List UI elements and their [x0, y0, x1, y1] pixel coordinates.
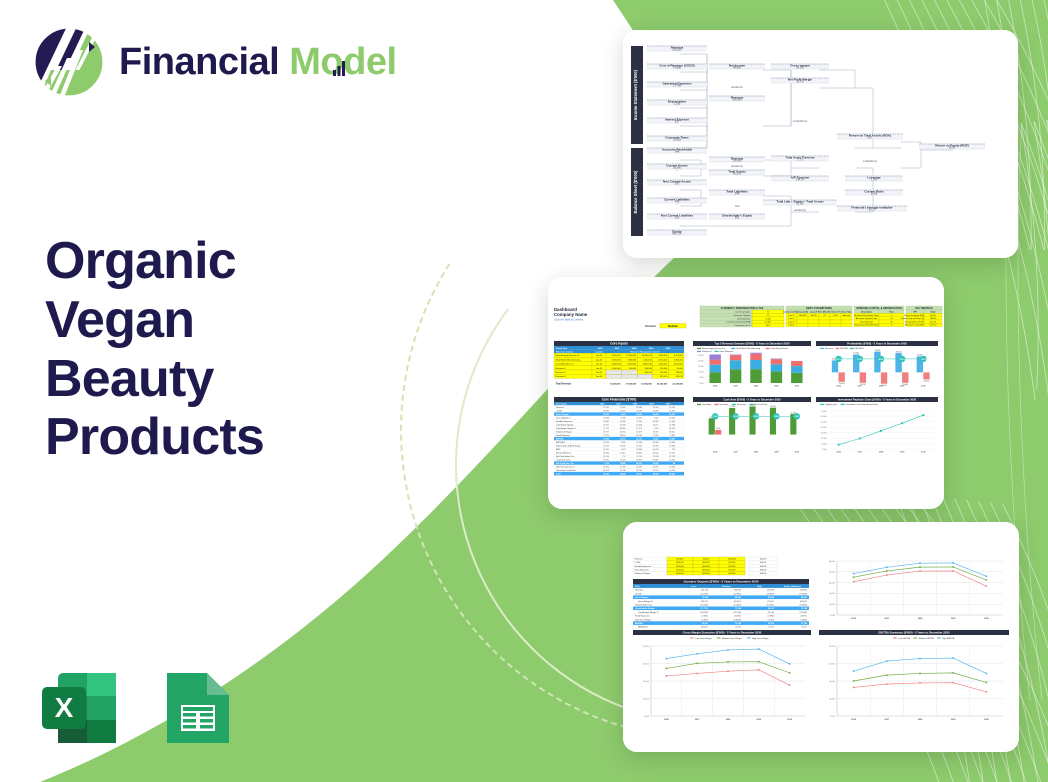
svg-text:Contribution Margin %: Contribution Margin % — [638, 611, 659, 614]
svg-text:26,818: 26,818 — [636, 460, 642, 462]
svg-text:83,746: 83,746 — [636, 470, 642, 472]
svg-text:52.0%: 52.0% — [801, 627, 807, 629]
svg-text:42,571: 42,571 — [603, 425, 609, 427]
svg-text:20,000: 20,000 — [643, 663, 650, 665]
svg-text:Company Name: Company Name — [554, 312, 588, 317]
svg-text:Gross Margin: Gross Margin — [556, 414, 570, 416]
svg-text:Investing: Investing — [719, 403, 727, 406]
svg-text:10,650: 10,650 — [924, 381, 930, 383]
svg-text:(99.0)%: (99.0)% — [728, 569, 735, 571]
svg-text:5,700,000: 5,700,000 — [658, 359, 668, 361]
svg-text:(45,218): (45,218) — [701, 593, 709, 595]
svg-text:87,239: 87,239 — [669, 456, 675, 458]
svg-text:88: 88 — [673, 463, 675, 465]
svg-text:Revenue: Revenue — [825, 348, 834, 350]
svg-text:50.5%: 50.5% — [796, 202, 804, 206]
svg-text:Jan-25: Jan-25 — [930, 321, 937, 323]
svg-text:30,000: 30,000 — [829, 561, 836, 563]
svg-text:100.0%: 100.0% — [703, 559, 710, 561]
svg-text:Loan 3: Loan 3 — [788, 321, 795, 323]
svg-text:8,450,000: 8,450,000 — [612, 355, 622, 357]
svg-text:Consulting Services: Consulting Services — [556, 363, 574, 366]
svg-text:4,000,000: 4,000,000 — [612, 364, 622, 366]
headline-line-2: Vegan — [45, 291, 445, 350]
svg-text:980,000: 980,000 — [660, 372, 668, 374]
svg-text:(13,863): (13,863) — [734, 605, 742, 607]
svg-text:49,162: 49,162 — [669, 453, 675, 455]
svg-text:4,800,148: 4,800,148 — [643, 364, 653, 366]
svg-text:Jan-26: Jan-26 — [596, 364, 603, 366]
svg-text:100.0%: 100.0% — [760, 566, 767, 568]
svg-text:multiplied by: multiplied by — [793, 119, 808, 123]
svg-text:Top 5 Revenue Streams ($'000): Top 5 Revenue Streams ($'000) - 5 Years … — [715, 342, 790, 346]
svg-text:52.0%: 52.0% — [735, 627, 741, 629]
svg-text:29,140: 29,140 — [896, 351, 902, 353]
svg-text:15,810: 15,810 — [860, 384, 866, 386]
svg-text:78,318: 78,318 — [653, 432, 659, 434]
svg-text:Loan 2: Loan 2 — [788, 318, 795, 320]
svg-text:(49,833): (49,833) — [767, 593, 775, 595]
svg-text:5,000: 5,000 — [644, 716, 650, 718]
svg-text:divided by: divided by — [794, 208, 806, 212]
svg-text:75,108: 75,108 — [620, 470, 626, 472]
svg-text:10,300: 10,300 — [753, 416, 758, 418]
svg-text:16,400,000: 16,400,000 — [610, 382, 621, 385]
svg-text:75,748: 75,748 — [735, 622, 742, 625]
svg-text:Accounts Receivable Days: Accounts Receivable Days — [855, 314, 879, 317]
svg-text:15,000: 15,000 — [643, 681, 650, 683]
svg-text:136,800: 136,800 — [734, 590, 742, 592]
svg-text:-: - — [677, 87, 678, 90]
ratio-node: Corporate Taxes20,528 — [647, 135, 707, 141]
ratio-node: Net Profit Margin35.7% — [771, 77, 829, 83]
svg-text:63,363: 63,363 — [653, 407, 659, 409]
svg-text:Depreciation & Amortisation: Depreciation & Amortisation — [556, 445, 581, 448]
svg-text:Net Profit after Tax: Net Profit after Tax — [556, 462, 575, 465]
svg-text:59,710: 59,710 — [636, 456, 642, 458]
svg-text:Go to the Table of Contents: Go to the Table of Contents — [554, 319, 584, 322]
svg-text:15,000: 15,000 — [829, 681, 836, 683]
svg-text:50,000: 50,000 — [677, 368, 684, 370]
svg-text:87,005: 87,005 — [603, 407, 609, 409]
svg-text:Operating: Operating — [702, 403, 711, 406]
svg-text:58.98: 58.98 — [871, 192, 878, 196]
svg-text:Revenue 6: Revenue 6 — [556, 376, 567, 378]
svg-text:(101.0)%: (101.0)% — [676, 566, 684, 568]
svg-text:Denomination: Denomination — [737, 317, 751, 320]
svg-text:Loan 1: Loan 1 — [788, 315, 795, 317]
svg-text:71,279: 71,279 — [636, 428, 642, 430]
svg-text:Low Gross Margin: Low Gross Margin — [695, 638, 711, 640]
svg-text:420,070: 420,070 — [676, 376, 684, 378]
svg-text:9,000: 9,000 — [699, 372, 704, 374]
svg-text:20,670: 20,670 — [669, 470, 675, 472]
svg-text:16,373: 16,373 — [636, 432, 642, 434]
svg-text:Gross Margin: Gross Margin — [635, 596, 649, 599]
svg-text:14,007: 14,007 — [636, 418, 642, 420]
svg-text:Payback year: Payback year — [825, 404, 837, 406]
svg-text:Net Profit after tax %: Net Profit after tax % — [556, 466, 575, 469]
svg-text:20,764: 20,764 — [653, 449, 659, 451]
svg-text:47,368: 47,368 — [620, 421, 626, 423]
svg-text:1,170.2: 1,170.2 — [930, 325, 938, 327]
svg-text:420,070: 420,070 — [660, 376, 668, 378]
svg-text:Small Batch Manufacturing: Small Batch Manufacturing — [736, 347, 760, 350]
svg-text:(7,682): (7,682) — [768, 616, 775, 618]
svg-text:Depreciation Period (Years): Depreciation Period (Years) — [854, 324, 879, 327]
svg-text:2028: 2028 — [632, 348, 638, 350]
svg-text:Revenue streams: Revenue streams — [556, 350, 574, 353]
ratio-node: Gross margin65.0% — [771, 63, 829, 69]
svg-text:Gross Margin %: Gross Margin % — [638, 600, 653, 603]
svg-text:High Gross Margin: High Gross Margin — [752, 638, 769, 640]
svg-text:20,140,000: 20,140,000 — [657, 382, 668, 385]
microsoft-excel-icon[interactable]: X — [36, 665, 122, 751]
svg-text:9,010: 9,010 — [795, 416, 799, 418]
svg-text:10,130: 10,130 — [733, 416, 738, 418]
svg-text:18,824: 18,824 — [636, 453, 642, 455]
svg-text:752: 752 — [622, 456, 625, 458]
svg-text:Fixed Expenses: Fixed Expenses — [635, 569, 649, 571]
svg-text:84,339: 84,339 — [653, 421, 659, 423]
svg-text:43.2%: 43.2% — [900, 358, 905, 361]
svg-text:549: 549 — [735, 192, 740, 196]
svg-text:Jan-26: Jan-26 — [596, 372, 603, 374]
svg-text:Annuity: Annuity — [843, 314, 850, 317]
svg-text:(61,18): (61,18) — [768, 612, 775, 614]
svg-text:Corporate Taxes: Corporate Taxes — [556, 459, 571, 462]
svg-text:CURRENCY, DENOMINATION & TAX: CURRENCY, DENOMINATION & TAX — [721, 307, 764, 310]
svg-text:15,840: 15,840 — [903, 384, 909, 386]
svg-text:Discounted Cash Flow: Discounted Cash Flow — [905, 320, 926, 323]
svg-text:78,990: 78,990 — [603, 439, 609, 441]
svg-text:(99.0)%: (99.0)% — [728, 566, 735, 568]
svg-text:Salaries & Wages: Salaries & Wages — [556, 432, 572, 434]
svg-text:41,200: 41,200 — [620, 411, 626, 413]
svg-text:divided by: divided by — [731, 164, 743, 168]
svg-text:Variable Expenses: Variable Expenses — [635, 566, 652, 568]
svg-text:60,321: 60,321 — [636, 474, 642, 476]
ratio-node: Revenue136,800 — [709, 95, 765, 101]
svg-text:80,462: 80,462 — [603, 473, 609, 476]
svg-text:24,141: 24,141 — [603, 449, 609, 451]
svg-text:1.000: 1.000 — [765, 322, 771, 324]
svg-text:Revenue 4: Revenue 4 — [556, 368, 567, 370]
svg-text:2029: 2029 — [649, 348, 655, 350]
svg-text:Financing: Financing — [737, 404, 746, 406]
svg-text:39.2%: 39.2% — [921, 359, 926, 361]
svg-text:(47,880): (47,880) — [734, 593, 742, 595]
svg-text:142,380: 142,380 — [767, 590, 775, 592]
svg-text:Jan-26: Jan-26 — [596, 355, 603, 357]
svg-text:948: 948 — [675, 150, 680, 154]
svg-text:34,522: 34,522 — [669, 413, 675, 416]
svg-text:7,000: 7,000 — [699, 377, 704, 379]
svg-text:74,435: 74,435 — [669, 438, 675, 441]
svg-text:30,366: 30,366 — [636, 449, 642, 451]
svg-text:34,154: 34,154 — [603, 456, 609, 458]
svg-text:17,200: 17,200 — [881, 385, 887, 387]
svg-text:14,280: 14,280 — [839, 383, 845, 385]
svg-text:Net Profit before Tax: Net Profit before Tax — [556, 455, 574, 458]
svg-text:10,000: 10,000 — [829, 604, 836, 606]
svg-text:34,497: 34,497 — [653, 467, 659, 469]
svg-text:(101.0)%: (101.0)% — [676, 569, 684, 571]
svg-text:Inventory Days: Inventory Days — [860, 320, 873, 323]
svg-text:78,174: 78,174 — [603, 435, 609, 437]
svg-text:75,748: 75,748 — [801, 622, 808, 625]
svg-text:High: High — [757, 586, 763, 588]
svg-text:Revenue 4: Revenue 4 — [702, 351, 713, 353]
svg-text:4,000,000: 4,000,000 — [674, 364, 684, 366]
ratio-node: Revenue136,800 — [709, 156, 765, 162]
svg-text:520,000: 520,000 — [660, 368, 668, 370]
brand-word-model: Model — [289, 41, 396, 83]
svg-text:100.0%: 100.0% — [760, 573, 767, 575]
svg-text:EBITDA %: EBITDA % — [855, 347, 865, 350]
svg-text:Total Revenue: Total Revenue — [556, 382, 572, 385]
svg-text:52,907: 52,907 — [702, 623, 709, 625]
svg-text:100.0%: 100.0% — [760, 559, 767, 561]
svg-text:4,000,000: 4,000,000 — [658, 364, 668, 366]
svg-text:44,316: 44,316 — [636, 462, 642, 465]
svg-text:Interest Expense: Interest Expense — [556, 452, 572, 455]
svg-text:20,000: 20,000 — [829, 663, 836, 665]
svg-text:Jan-26: Jan-26 — [596, 359, 603, 361]
svg-text:75,748: 75,748 — [801, 607, 808, 610]
svg-text:Description: Description — [556, 403, 568, 406]
svg-text:70,428: 70,428 — [669, 442, 675, 444]
svg-text:49,263: 49,263 — [669, 407, 675, 409]
svg-text:Medium: Medium — [668, 324, 678, 328]
svg-text:Description: Description — [861, 311, 873, 314]
svg-text:EBIT: EBIT — [556, 449, 561, 451]
svg-text:105: 105 — [675, 216, 680, 220]
svg-text:(8,671): (8,671) — [735, 616, 742, 618]
svg-text:(3,180): (3,180) — [768, 619, 775, 621]
svg-text:(103.0)%: (103.0)% — [676, 573, 684, 575]
svg-text:10,000: 10,000 — [643, 698, 650, 700]
dashboard-screenshot[interactable]: DashboardCompany NameGo to the Table of … — [548, 277, 944, 509]
svg-text:5,476: 5,476 — [621, 413, 626, 416]
svg-text:100.0%: 100.0% — [760, 562, 767, 564]
svg-text:Cash: Cash — [556, 474, 562, 476]
svg-text:39,486: 39,486 — [669, 446, 675, 448]
svg-text:COGS: COGS — [635, 562, 642, 564]
google-sheets-icon[interactable] — [151, 665, 237, 751]
svg-text:(7,581): (7,581) — [702, 616, 709, 618]
ratio-node: Current Ratio58.98 — [845, 189, 903, 195]
svg-text:7,160,000: 7,160,000 — [643, 359, 653, 361]
svg-text:73,928: 73,928 — [620, 446, 626, 448]
ratio-node: Financial Leverage multiplier63.22 — [837, 205, 907, 211]
svg-text:-: - — [677, 51, 678, 54]
svg-text:(13,863): (13,863) — [800, 605, 808, 607]
headline-line-3: Beauty — [45, 350, 445, 409]
svg-text:136,800: 136,800 — [800, 590, 808, 592]
svg-text:1.9%: 1.9% — [871, 178, 878, 182]
svg-text:(47,880): (47,880) — [800, 593, 808, 595]
svg-text:31,000: 31,000 — [821, 433, 827, 435]
svg-text:(3,498): (3,498) — [801, 619, 808, 621]
file-format-icons: X — [36, 665, 237, 751]
svg-text:12,200: 12,200 — [770, 406, 776, 408]
svg-text:Variable Expenses: Variable Expenses — [635, 604, 652, 607]
svg-text:Fiscal Year: Fiscal Year — [556, 348, 568, 350]
svg-text:80,674: 80,674 — [603, 467, 609, 469]
svg-text:19,994,000: 19,994,000 — [641, 382, 652, 385]
svg-text:8.0%: 8.0% — [833, 315, 838, 317]
svg-text:(65.0)%: (65.0)% — [734, 601, 741, 603]
svg-text:22,520: 22,520 — [669, 460, 675, 462]
svg-text:(66,136): (66,136) — [701, 612, 709, 614]
svg-text:Currency Outputs: Currency Outputs — [733, 314, 751, 317]
svg-text:71,000: 71,000 — [821, 411, 827, 413]
svg-text:48,329: 48,329 — [603, 413, 609, 416]
svg-text:136,800: 136,800 — [732, 98, 742, 102]
svg-text:66,160: 66,160 — [620, 435, 626, 437]
svg-text:68,633: 68,633 — [603, 411, 609, 413]
svg-text:65,463: 65,463 — [653, 413, 659, 416]
svg-text:5,950,000: 5,950,000 — [612, 359, 622, 361]
svg-text:23,084: 23,084 — [669, 467, 675, 469]
svg-text:KPI: KPI — [913, 312, 917, 314]
svg-text:13,000: 13,000 — [698, 360, 704, 362]
svg-text:5,000: 5,000 — [699, 383, 704, 385]
svg-text:32,645: 32,645 — [620, 473, 626, 476]
svg-text:(100.0)%: (100.0)% — [702, 569, 710, 571]
svg-text:938,108: 938,108 — [644, 368, 652, 370]
svg-text:25,000: 25,000 — [643, 646, 650, 648]
svg-text:21,035: 21,035 — [620, 407, 626, 409]
svg-text:83,480: 83,480 — [636, 407, 642, 409]
ratio-node: Non Current Liabilities105 — [647, 213, 707, 219]
ratio-node: Return on Equity (ROE)61.03 — [919, 143, 985, 149]
svg-text:multiplied by: multiplied by — [863, 159, 878, 163]
svg-text:COGS: COGS — [635, 593, 642, 595]
ratio-node: A/R Turnover144.24 — [771, 175, 829, 181]
svg-text:Revenue Forecast for years $: Revenue Forecast for years $ — [631, 350, 661, 353]
svg-text:75,399: 75,399 — [653, 435, 659, 437]
svg-text:1,715: 1,715 — [654, 428, 659, 430]
svg-text:12,010: 12,010 — [620, 439, 626, 441]
svg-text:Salaries & Wages: Salaries & Wages — [635, 573, 651, 575]
svg-text:2027: 2027 — [615, 348, 621, 350]
svg-text:74,889: 74,889 — [620, 462, 626, 465]
svg-text:81,766: 81,766 — [653, 446, 659, 448]
svg-text:40,918: 40,918 — [636, 425, 642, 427]
svg-text:(8,671): (8,671) — [801, 616, 808, 618]
svg-text:24,499: 24,499 — [636, 467, 642, 469]
svg-text:Cumulative Cash Generated (Gro: Cumulative Cash Generated (Gross) — [846, 403, 879, 406]
ratio-node: Accounts Receivable948 — [647, 147, 707, 153]
svg-text:36,977: 36,977 — [603, 432, 609, 434]
svg-text:Low: Low — [691, 586, 696, 588]
svg-text:(100.0)%: (100.0)% — [702, 573, 710, 575]
svg-text:168,000: 168,000 — [676, 372, 684, 374]
svg-text:146.6%: 146.6% — [930, 318, 937, 320]
svg-text:Other Revenue: Other Revenue — [719, 350, 733, 353]
svg-text:20,000: 20,000 — [829, 582, 836, 584]
svg-text:(71.0)%: (71.0)% — [767, 601, 774, 603]
svg-text:75,748: 75,748 — [735, 607, 742, 610]
svg-text:(65.0)%: (65.0)% — [800, 601, 807, 603]
svg-text:10,898,100: 10,898,100 — [642, 355, 653, 357]
svg-text:15,248: 15,248 — [653, 456, 659, 458]
svg-text:EBITDA: EBITDA — [635, 622, 643, 625]
scenario-analysis-screenshot[interactable]: Revenue(96.0)%100.0%(104.0)%100.0%COGS(1… — [623, 522, 1019, 752]
svg-text:(13,136): (13,136) — [701, 605, 709, 607]
svg-text:48,828: 48,828 — [733, 66, 741, 70]
svg-text:Low EBITDA: Low EBITDA — [898, 637, 910, 640]
svg-text:(96.0)%: (96.0)% — [676, 559, 683, 561]
svg-text:50,576: 50,576 — [733, 172, 741, 176]
svg-text:Profitability ($'000) - 5 Year: Profitability ($'000) - 5 Years to Decem… — [847, 342, 907, 346]
svg-text:Balance Sheet ($'000): Balance Sheet ($'000) — [633, 170, 638, 213]
ratio-node: Equity#51,176 — [647, 229, 707, 235]
svg-text:Amount ($): Amount ($) — [797, 311, 808, 314]
ratio-node: Leverage1.9% — [845, 175, 903, 181]
svg-text:63.22: 63.22 — [869, 208, 876, 212]
svg-text:1,000: 1,000 — [822, 449, 827, 451]
headline-line-1: Organic — [45, 232, 445, 291]
svg-text:12,100: 12,100 — [729, 406, 735, 408]
svg-text:53,603: 53,603 — [653, 463, 659, 465]
svg-text:DEBT ASSUMPTIONS: DEBT ASSUMPTIONS — [806, 307, 832, 310]
svg-text:X: X — [55, 692, 74, 723]
svg-text:13,264: 13,264 — [669, 418, 675, 420]
svg-text:Scenario Outputs ($'000) - 5 Y: Scenario Outputs ($'000) - 5 Years to De… — [684, 580, 759, 584]
svg-text:89,854: 89,854 — [620, 428, 626, 430]
svg-text:Core Inputs: Core Inputs — [610, 342, 628, 346]
svg-text:800: 800 — [735, 216, 740, 220]
svg-text:Value: Value — [930, 312, 936, 314]
svg-text:Medium: Medium — [722, 586, 730, 588]
svg-text:6,833: 6,833 — [670, 435, 675, 437]
svg-text:KEY METRICS: KEY METRICS — [915, 307, 932, 310]
svg-text:9,000,000: 9,000,000 — [658, 355, 668, 357]
svg-text:Core Financials ($'000): Core Financials ($'000) — [602, 398, 637, 402]
svg-text:26,750: 26,750 — [620, 432, 626, 434]
svg-text:5,300,000: 5,300,000 — [674, 359, 684, 361]
svg-text:500,000: 500,000 — [629, 368, 637, 370]
svg-text:Maximum Cash (NPV): Maximum Cash (NPV) — [905, 325, 925, 327]
svg-text:85,502: 85,502 — [653, 453, 659, 455]
svg-text:9,490: 9,490 — [713, 415, 717, 418]
svg-text:Fixed Expenses: Fixed Expenses — [556, 435, 570, 437]
bar-chart-glyph-icon — [333, 61, 346, 76]
svg-text:0.97: 0.97 — [867, 136, 873, 140]
svg-text:Scenario: Scenario — [645, 324, 656, 328]
svg-text:52,417: 52,417 — [620, 453, 626, 455]
svg-text:28,349: 28,349 — [620, 425, 626, 427]
svg-text:48,615: 48,615 — [669, 432, 675, 434]
financial-ratio-tree-screenshot[interactable]: Income Statement ($'000) Balance Sheet (… — [623, 30, 1018, 258]
svg-text:10,280: 10,280 — [774, 416, 779, 418]
page-title: Organic Vegan Beauty Products — [45, 232, 445, 467]
svg-text:2026: 2026 — [598, 348, 604, 350]
svg-text:72,404: 72,404 — [702, 596, 709, 599]
svg-text:(3,4098): (3,4098) — [734, 619, 742, 621]
svg-text:2,100: 2,100 — [716, 428, 721, 430]
ratio-node: Total Assets50,576 — [709, 169, 765, 175]
svg-text:Jan-26: Jan-26 — [810, 315, 817, 317]
svg-text:Gross Margin Scenarios ($'000): Gross Margin Scenarios ($'000) - 5 Years… — [683, 631, 762, 635]
svg-text:Revenue: Revenue — [635, 590, 644, 592]
svg-text:67.0%: 67.0% — [768, 627, 774, 629]
svg-text:(105.0)%: (105.0)% — [676, 562, 684, 564]
svg-text:Medium EBITDA: Medium EBITDA — [919, 637, 935, 640]
